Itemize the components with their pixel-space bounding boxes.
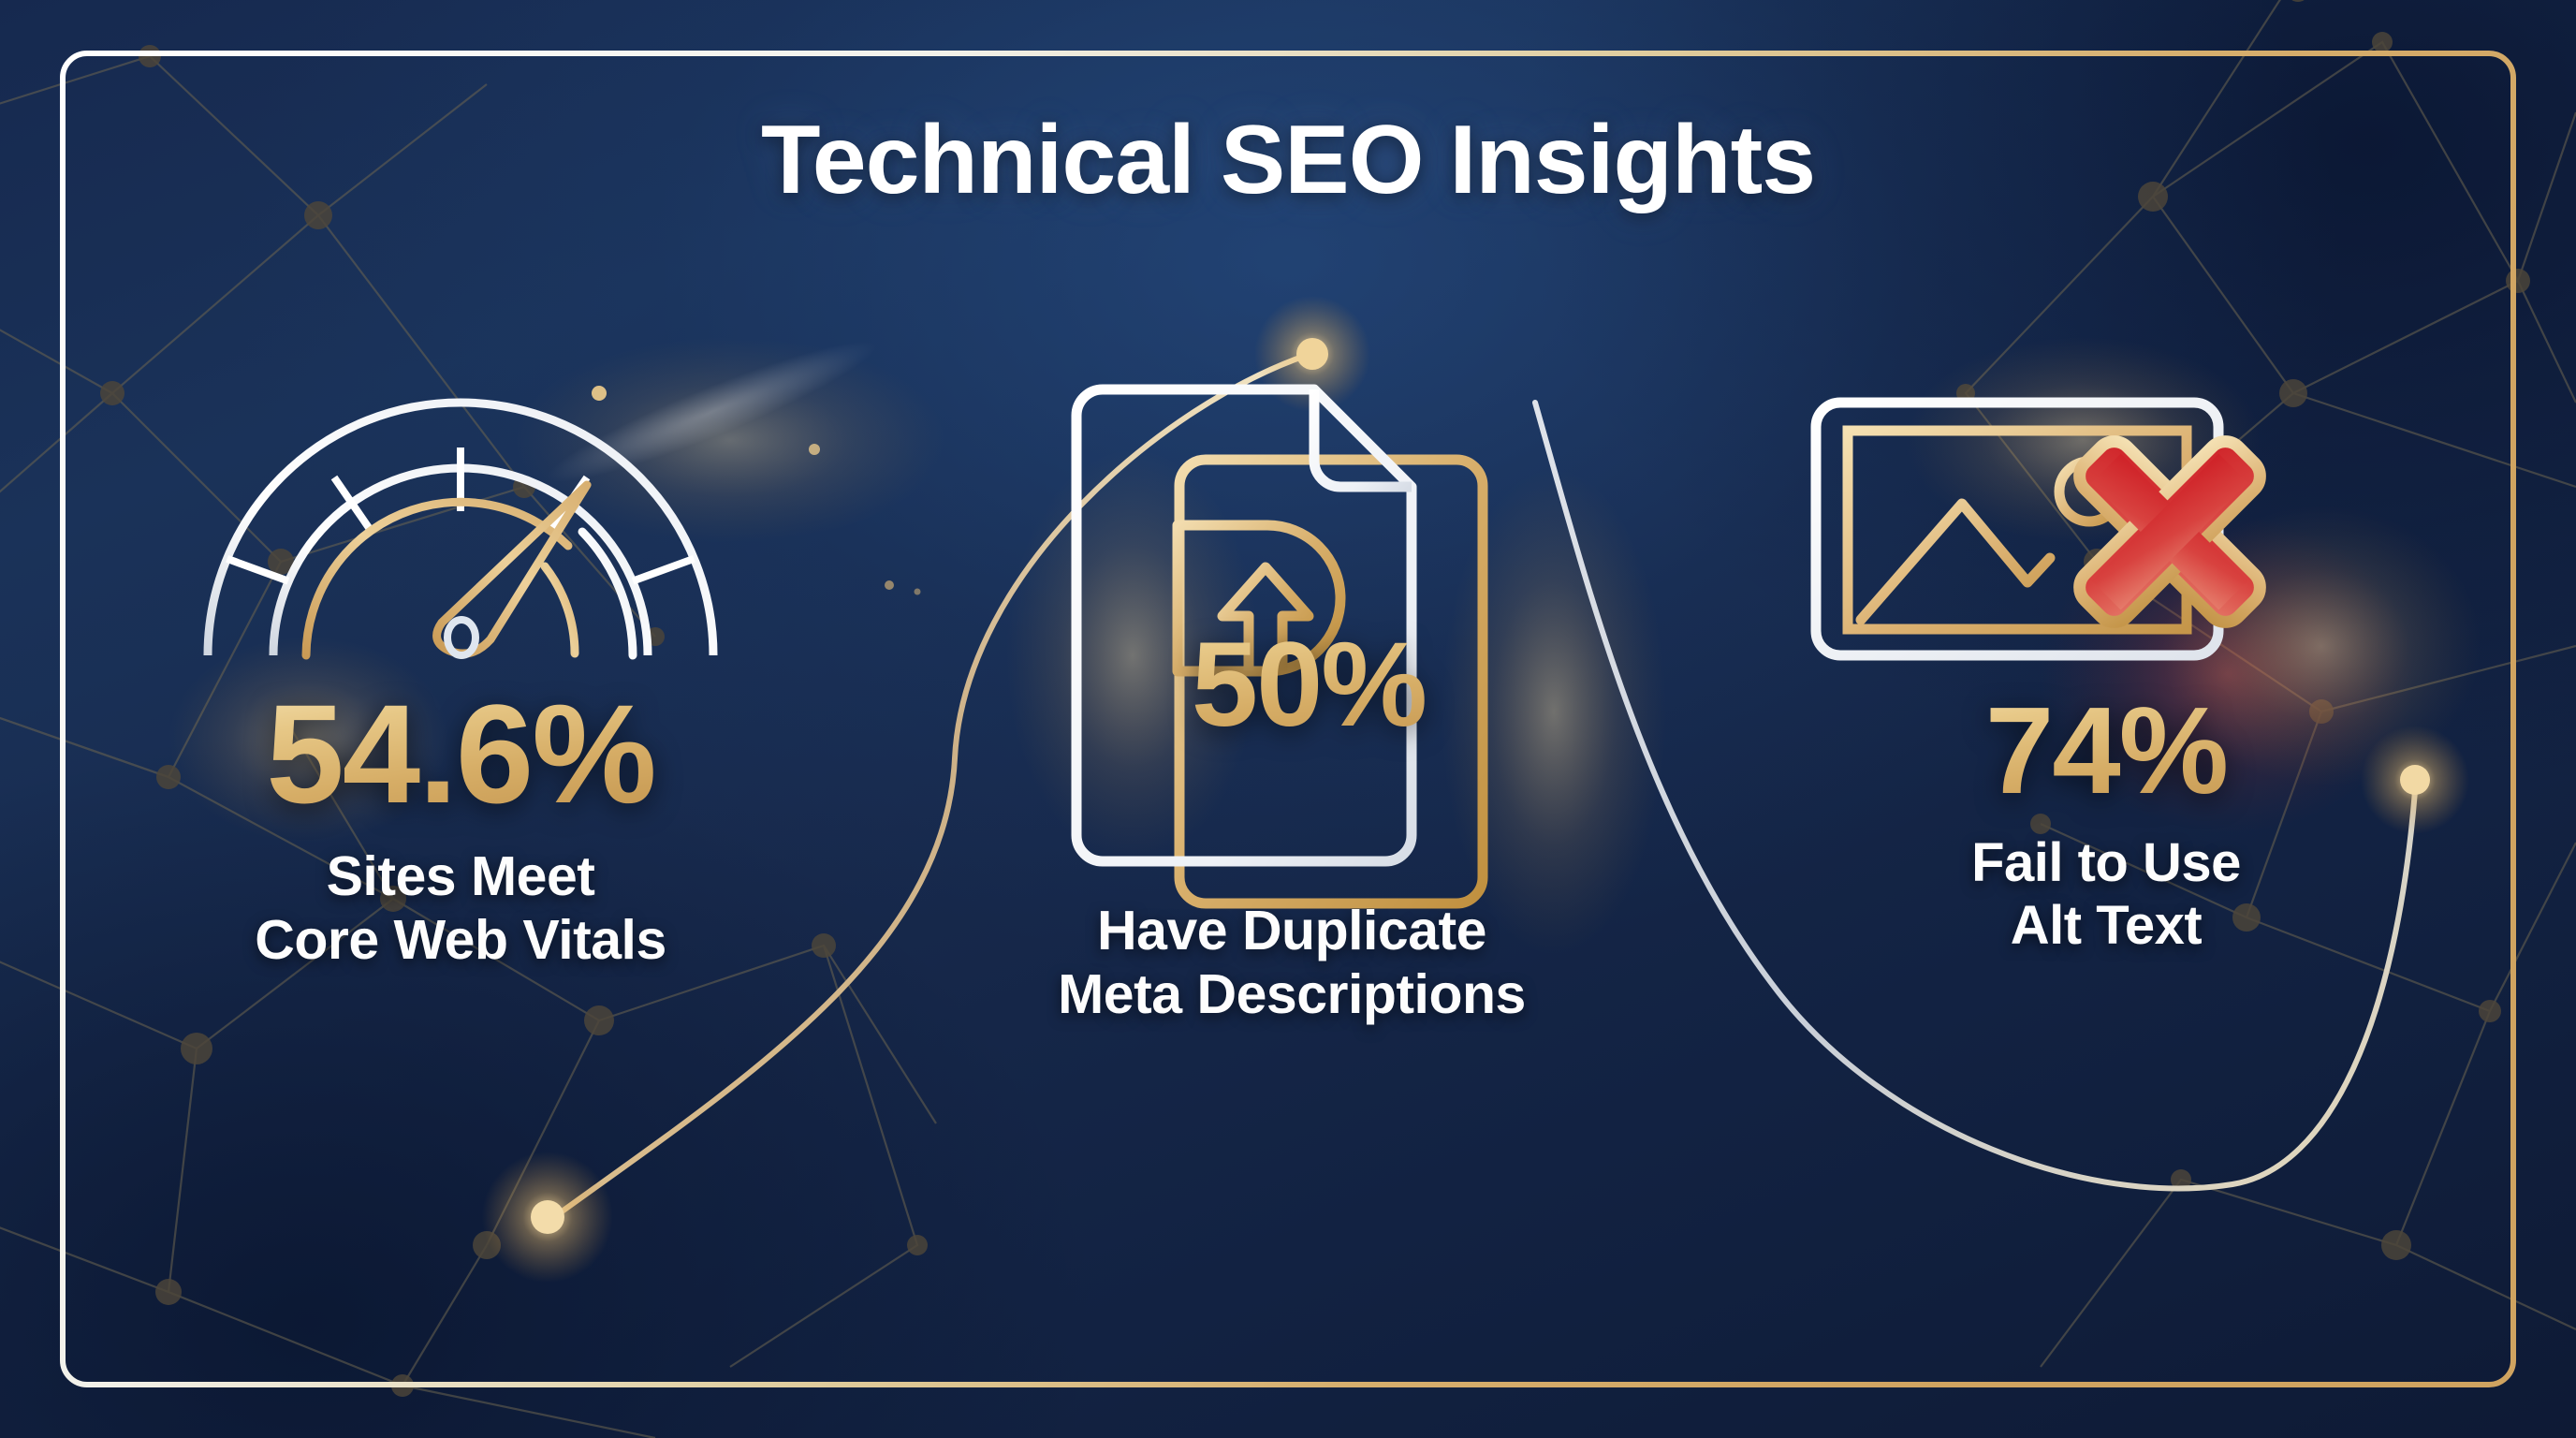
image-missing-alt-text-icon [1778, 374, 2434, 683]
stat-block-core-web-vitals: 54.6% Sites Meet Core Web Vitals [142, 374, 779, 973]
duplicate-document-icon: 50% [936, 345, 1647, 925]
stat-block-duplicate-meta: 50% Have Duplicate Meta Descriptions [936, 345, 1647, 1027]
stat-caption-line2: Core Web Vitals [142, 908, 779, 972]
stat-value: 54.6% [142, 683, 779, 824]
infographic-canvas: Technical SEO Insights [0, 0, 2576, 1438]
stat-caption-line1: Sites Meet [142, 844, 779, 908]
stat-value: 50% [936, 625, 1647, 745]
stat-block-alt-text: 74% Fail to Use Alt Text [1778, 374, 2434, 958]
stat-caption-line1: Fail to Use [1778, 831, 2434, 894]
stat-caption-line2: Alt Text [1778, 894, 2434, 957]
speedometer-gauge-icon [142, 374, 779, 683]
stat-value: 74% [1778, 689, 2434, 813]
page-title: Technical SEO Insights [0, 105, 2576, 216]
stat-caption-line2: Meta Descriptions [936, 962, 1647, 1026]
